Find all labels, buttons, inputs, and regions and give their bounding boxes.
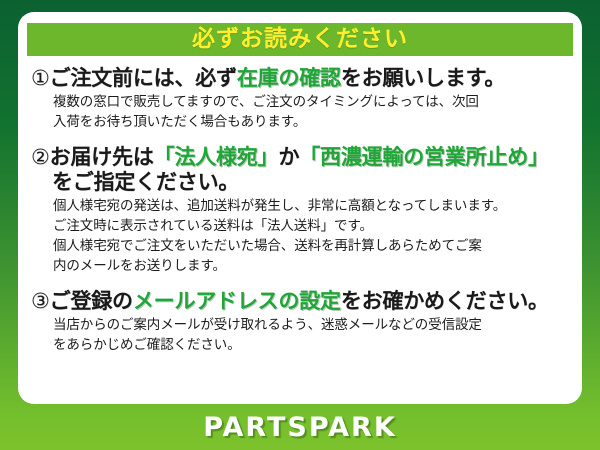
notice-item-3-heading-part-1: ご登録の: [50, 289, 133, 313]
notice-item-3-description-line-1: 当店からのご案内メールが受け取れるよう、迷惑メールなどの受信設定: [53, 316, 569, 336]
notice-item-1-description-line-2: 入荷をお待ち頂いただく場合もあります。: [53, 113, 569, 133]
notice-item-2-heading-highlight-2: 「西濃運輸の営業所止め」: [299, 145, 549, 169]
notice-item-3-heading: ③ご登録のメールアドレスの設定をお確かめください。: [31, 289, 569, 313]
notice-item-2-marker: ②: [31, 145, 50, 169]
notice-frame: 必ずお読みください ①ご注文前には、必ず在庫の確認をお願いします。 複数の窓口で…: [0, 0, 600, 450]
notice-item-3-description-line-2: をあらかじめご確認ください。: [53, 336, 569, 356]
notice-item-3: ③ご登録のメールアドレスの設定をお確かめください。 当店からのご案内メールが受け…: [31, 289, 569, 356]
notice-item-3-heading-highlight: メールアドレスの設定: [133, 289, 341, 313]
notice-item-2-heading-line-2: をご指定ください。: [31, 170, 569, 194]
notice-header-bar: 必ずお読みください: [27, 23, 573, 56]
notice-item-2-description-line-4: 内のメールをお送りします。: [53, 257, 569, 277]
notice-item-2-description-line-1: 個人様宅宛の発送は、追加送料が発生し、非常に高額となってしまいます。: [53, 197, 569, 217]
notice-item-1-description-line-1: 複数の窓口で販売してますので、ご注文のタイミングによっては、次回: [53, 93, 569, 113]
notice-item-1: ①ご注文前には、必ず在庫の確認をお願いします。 複数の窓口で販売してますので、ご…: [31, 66, 569, 133]
notice-item-1-heading-part-3: をお願いします。: [341, 66, 505, 90]
notice-item-1-heading-part-1: ご注文前には、必ず: [50, 66, 237, 90]
notice-item-3-heading-part-3: をお確かめください。: [341, 289, 549, 313]
notice-item-1-marker: ①: [31, 66, 50, 90]
notice-item-2: ②お届け先は「法人様宛」か「西濃運輸の営業所止め」 をご指定ください。 個人様宅…: [31, 145, 569, 277]
notice-item-2-heading-part-1: お届け先は: [50, 145, 154, 169]
notice-item-2-description-line-2: ご注文時に表示されている送料は「法人送料」です。: [53, 217, 569, 237]
notice-item-3-marker: ③: [31, 289, 50, 313]
notice-item-list: ①ご注文前には、必ず在庫の確認をお願いします。 複数の窓口で販売してますので、ご…: [27, 66, 573, 356]
notice-item-2-description: 個人様宅宛の発送は、追加送料が発生し、非常に高額となってしまいます。 ご注文時に…: [31, 197, 569, 277]
notice-item-2-description-line-3: 個人様宅宛でご注文をいただいた場合、送料を再計算しあらためてご案: [53, 237, 569, 257]
notice-footer: PARTSPARK: [0, 404, 600, 450]
page-title: 必ずお読みください: [192, 28, 408, 51]
notice-item-1-description: 複数の窓口で販売してますので、ご注文のタイミングによっては、次回 入荷をお待ち頂…: [31, 93, 569, 133]
notice-item-2-heading: ②お届け先は「法人様宛」か「西濃運輸の営業所止め」 をご指定ください。: [31, 145, 569, 194]
notice-item-1-heading-highlight: 在庫の確認: [237, 66, 341, 90]
notice-item-2-heading-highlight-1: 「法人様宛」: [154, 145, 279, 169]
notice-item-2-heading-part-3: か: [278, 145, 299, 169]
brand-wordmark: PARTSPARK: [203, 414, 397, 441]
notice-panel: 必ずお読みください ①ご注文前には、必ず在庫の確認をお願いします。 複数の窓口で…: [18, 12, 582, 404]
notice-item-3-description: 当店からのご案内メールが受け取れるよう、迷惑メールなどの受信設定 をあらかじめご…: [31, 316, 569, 356]
notice-item-1-heading: ①ご注文前には、必ず在庫の確認をお願いします。: [31, 66, 569, 90]
